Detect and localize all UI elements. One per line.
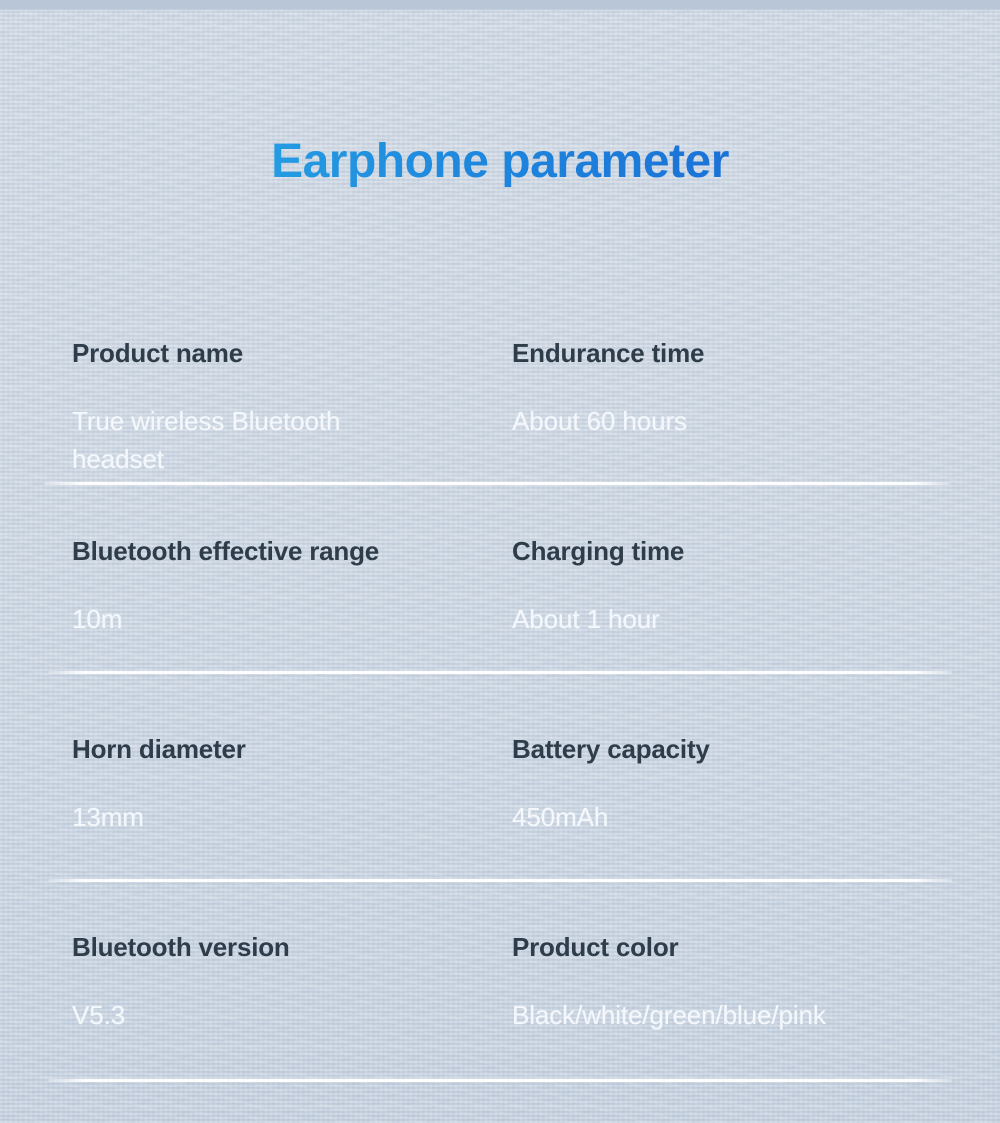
spec-label: Battery capacity — [512, 732, 972, 766]
spec-label: Charging time — [512, 534, 972, 568]
spec-value: V5.3 — [72, 996, 502, 1034]
spec-cell-bluetooth-range: Bluetooth effective range 10m — [72, 534, 502, 638]
spec-value: 10m — [72, 600, 502, 638]
earphone-parameter-page: Earphone parameter Product name True wir… — [0, 0, 1000, 1123]
row-divider — [44, 482, 950, 485]
spec-value: True wireless Bluetooth headset — [72, 402, 392, 478]
spec-cell-battery-capacity: Battery capacity 450mAh — [512, 732, 972, 836]
spec-label: Horn diameter — [72, 732, 502, 766]
spec-value: About 60 hours — [512, 402, 972, 440]
spec-value: 13mm — [72, 798, 502, 836]
spec-cell-bluetooth-version: Bluetooth version V5.3 — [72, 930, 502, 1034]
spec-label: Bluetooth version — [72, 930, 502, 964]
spec-label: Product name — [72, 336, 502, 370]
spec-value: Black/white/green/blue/pink — [512, 996, 972, 1034]
spec-cell-horn-diameter: Horn diameter 13mm — [72, 732, 502, 836]
spec-label: Bluetooth effective range — [72, 534, 502, 568]
spec-cell-charging-time: Charging time About 1 hour — [512, 534, 972, 638]
spec-label: Endurance time — [512, 336, 972, 370]
row-divider — [48, 671, 952, 674]
spec-value: About 1 hour — [512, 600, 972, 638]
spec-cell-product-color: Product color Black/white/green/blue/pin… — [512, 930, 972, 1034]
row-divider — [48, 879, 952, 882]
page-title: Earphone parameter — [0, 130, 1000, 194]
row-divider — [48, 1079, 952, 1082]
spec-cell-product-name: Product name True wireless Bluetooth hea… — [72, 336, 502, 478]
spec-value: 450mAh — [512, 798, 972, 836]
spec-label: Product color — [512, 930, 972, 964]
spec-cell-endurance-time: Endurance time About 60 hours — [512, 336, 972, 440]
